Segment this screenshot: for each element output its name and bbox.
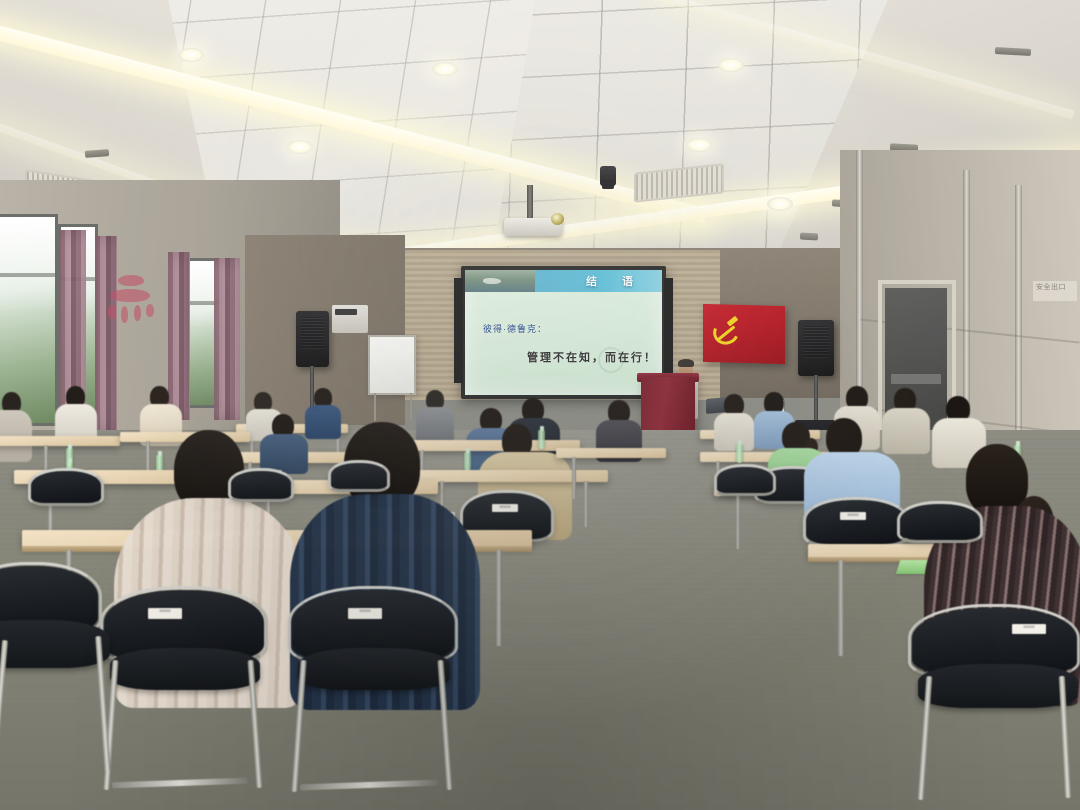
ceiling-downlight [287,140,313,154]
exit-sign: 安全出口 [1033,281,1077,301]
slide-quote: 管理不在知，而在行！ [527,349,657,365]
water-bottle[interactable] [538,430,545,449]
chair-seat[interactable] [110,648,260,690]
slide-attribution: 彼得·德鲁克： [483,322,547,335]
ceiling-camera [600,166,616,186]
chair-asset-tag: 00000 [1012,624,1046,634]
ceiling-slot-vent [800,233,818,241]
table-row [400,440,580,451]
window-glare [0,217,55,310]
pa-speaker-left [296,311,329,367]
chair-asset-tag: 00000 [148,608,182,619]
curtain-left-3[interactable] [168,252,190,420]
slide-watermark-icon [598,347,624,373]
whiteboard-legs [372,393,414,421]
presenter-hair [678,359,694,367]
chair-seat[interactable] [298,648,450,690]
chair-seat[interactable] [0,620,110,668]
av-equipment-rack [332,305,368,333]
table-leg [584,481,588,527]
attendee-torso [416,407,454,443]
curtain-left-2[interactable] [95,236,117,432]
communist-party-flag [703,304,785,364]
chair-seat[interactable] [918,664,1078,708]
conference-room-photo: 安全出口 结 语 彼得·德鲁克： 管理不在知，而在行！ [0,0,1080,810]
table-row [418,470,608,482]
chair-asset-tag: 00000 [492,504,518,512]
exit-sign-label: 安全出口 [1033,281,1077,293]
chair-frame[interactable] [714,464,776,496]
ceiling-downlight [432,62,458,76]
ceiling-downlight [178,48,204,62]
table-leg [838,560,844,656]
slide-title: 结 语 [586,273,640,289]
curtain-left-4[interactable] [214,258,240,420]
chair-frame[interactable] [803,497,909,547]
table-leg [496,550,502,646]
attendee-torso [882,408,930,454]
table-leg [736,495,740,549]
chair-asset-tag: 00000 [348,608,382,619]
chair-frame[interactable] [897,501,983,543]
projector-lens-icon [551,213,564,225]
ceiling-downlight [686,138,712,152]
projector-mount-pole [527,185,533,221]
water-bottle[interactable] [736,444,743,463]
chair-frame[interactable] [328,460,390,492]
attendee-torso [305,405,341,439]
pa-speaker-right [798,320,834,376]
wall-decoration-decal [106,275,168,327]
chair-asset-tag-label: 00000 [148,608,182,613]
presentation-slide: 结 语 彼得·德鲁克： 管理不在知，而在行！ [465,270,662,395]
chair-asset-tag-label: 00000 [840,512,866,517]
table-leg [572,457,576,499]
attendee-torso [714,413,754,451]
chair-asset-tag-label: 00000 [348,608,382,613]
chair-asset-tag-label: 00000 [492,504,518,509]
ceiling-downlight [767,197,793,211]
projection-screen: 结 语 彼得·德鲁克： 管理不在知，而在行！ [461,266,666,399]
hammer-and-sickle-icon [713,316,739,343]
water-bottle[interactable] [464,452,471,471]
chair-frame[interactable] [228,468,294,502]
ceiling-downlight [718,58,744,72]
table-row [0,436,120,446]
chair-frame[interactable] [28,468,104,506]
whiteboard [368,335,416,395]
chair-asset-tag: 00000 [840,512,866,520]
slide-header-photo [465,270,535,292]
chair-asset-tag-label: 00000 [1012,624,1046,629]
